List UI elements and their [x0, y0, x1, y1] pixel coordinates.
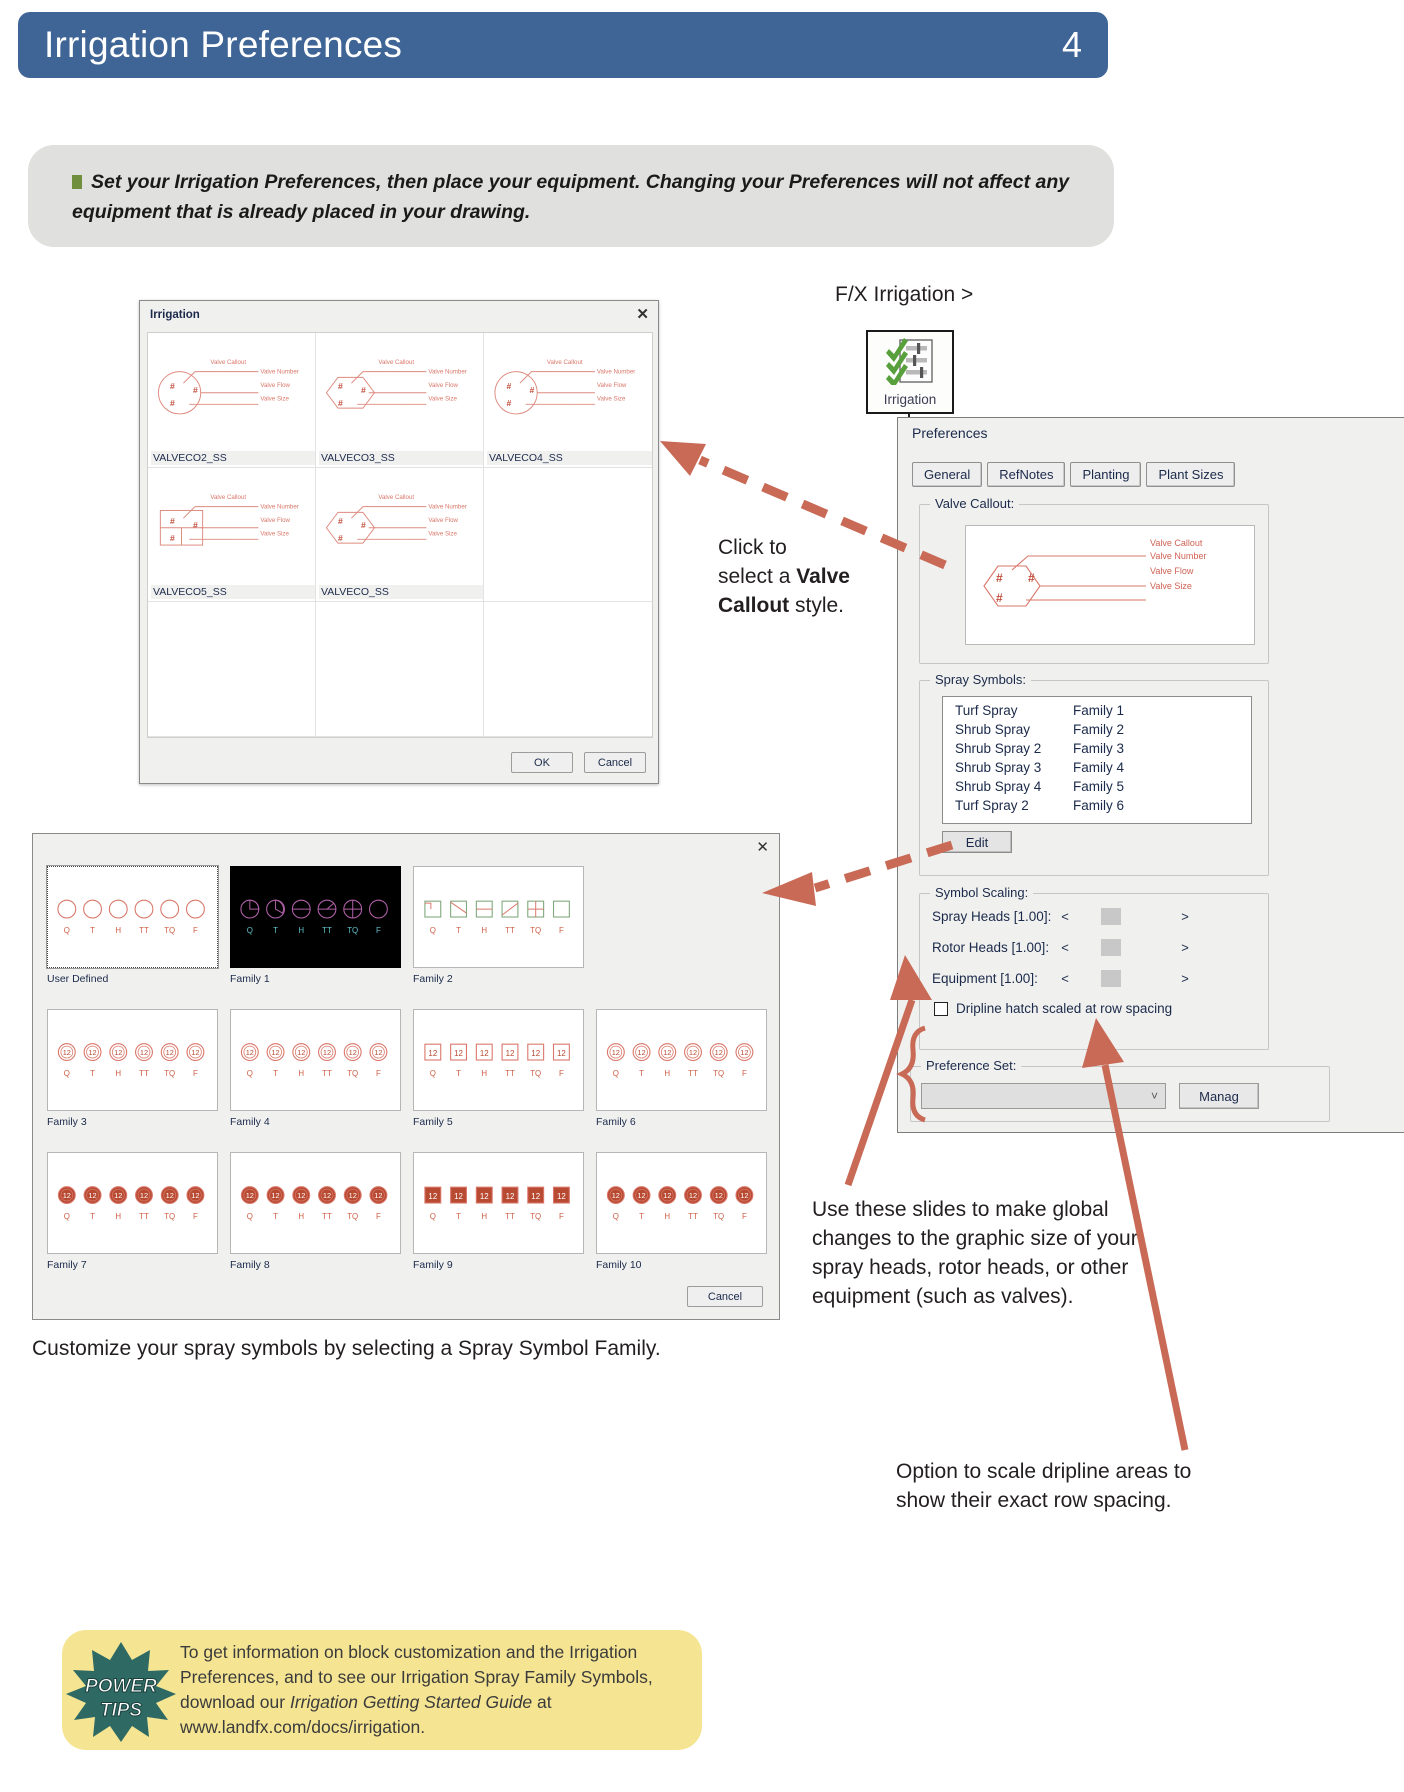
annotation-line1: Click to: [718, 536, 787, 559]
svg-text:12: 12: [664, 1048, 672, 1057]
svg-text:12: 12: [689, 1048, 697, 1057]
svg-text:H: H: [665, 1212, 671, 1221]
preferences-titlebar: Preferences: [898, 418, 1404, 448]
annotation-line2-pre: select a: [718, 565, 796, 588]
spray-family-label: Family 1: [230, 973, 401, 985]
family-button-row: Cancel: [687, 1286, 763, 1307]
valve-callout-preview-art: Valve Callout Valve Number Valve Flow Va…: [316, 337, 483, 437]
svg-text:12: 12: [506, 1192, 515, 1201]
dripline-checkbox[interactable]: [934, 1002, 948, 1016]
svg-text:TT: TT: [506, 1069, 516, 1078]
spray-family-thumbnail[interactable]: 12Q 12T 12H 12TT 12TQ 12F: [47, 1009, 218, 1111]
spray-family-label: Family 7: [47, 1259, 218, 1271]
svg-text:Valve Flow: Valve Flow: [597, 382, 627, 389]
svg-text:12: 12: [272, 1191, 280, 1200]
svg-text:Valve Number: Valve Number: [428, 503, 466, 510]
valve-callout-preview[interactable]: Valve Callout Valve Number Valve Flow Va…: [965, 525, 1255, 645]
svg-text:T: T: [91, 1069, 96, 1078]
svg-text:Valve Size: Valve Size: [428, 395, 457, 402]
svg-text:T: T: [457, 1069, 462, 1078]
svg-text:TT: TT: [140, 926, 150, 935]
svg-text:Q: Q: [247, 1212, 253, 1221]
svg-text:12: 12: [664, 1191, 672, 1200]
svg-text:Valve Callout: Valve Callout: [378, 359, 414, 366]
ribbon-irrigation-button[interactable]: Irrigation: [866, 330, 954, 414]
svg-text:TT: TT: [140, 1212, 150, 1221]
svg-text:12: 12: [89, 1191, 97, 1200]
scale-slider-handle[interactable]: [1101, 939, 1121, 956]
spray-symbol-family: Family 3: [1073, 739, 1124, 758]
svg-text:Valve Size: Valve Size: [597, 395, 626, 402]
svg-text:TQ: TQ: [531, 926, 542, 935]
svg-text:H: H: [299, 1212, 305, 1221]
svg-text:TQ: TQ: [348, 1069, 359, 1078]
scaling-row: Rotor Heads [1.00]:<>: [932, 939, 1258, 956]
svg-text:Q: Q: [613, 1069, 619, 1078]
svg-text:#: #: [338, 398, 343, 408]
svg-text:TT: TT: [140, 1069, 150, 1078]
svg-text:12: 12: [480, 1049, 489, 1058]
scale-slider-handle[interactable]: [1101, 970, 1121, 987]
svg-text:TQ: TQ: [165, 1212, 176, 1221]
spray-family-thumbnail[interactable]: QTHTTTQF: [47, 866, 218, 968]
svg-text:H: H: [482, 926, 488, 935]
spray-symbol-name: Shrub Spray: [955, 720, 1073, 739]
spray-family-option[interactable]: 12Q 12T 12H 12TT 12TQ 12F Family 10: [590, 1148, 773, 1291]
valve-callout-option[interactable]: Valve Callout Valve Number Valve Flow Va…: [316, 333, 484, 468]
svg-text:Valve Number: Valve Number: [1150, 551, 1206, 561]
svg-text:T: T: [457, 1212, 462, 1221]
scaling-row-label: Rotor Heads [1.00]:: [932, 940, 1057, 955]
svg-text:Q: Q: [247, 926, 253, 935]
svg-text:12: 12: [192, 1191, 200, 1200]
svg-text:F: F: [742, 1212, 747, 1221]
svg-text:12: 12: [63, 1048, 71, 1057]
spray-family-thumbnail[interactable]: 12Q 12T 12H 12TT 12TQ 12F: [596, 1152, 767, 1254]
spray-symbol-family: Family 2: [1073, 720, 1124, 739]
page-title: Irrigation Preferences: [44, 24, 402, 66]
spray-symbol-name: Shrub Spray 2: [955, 739, 1073, 758]
valve-callout-option-label: VALVECO_SS: [319, 585, 484, 599]
valve-callout-option-label: VALVECO3_SS: [319, 451, 484, 465]
spray-family-label: User Defined: [47, 973, 218, 985]
spray-family-option[interactable]: 12Q 12T 12H 12TT 12TQ 12F Family 4: [224, 1005, 407, 1148]
svg-text:Valve Flow: Valve Flow: [428, 517, 458, 524]
spray-family-option[interactable]: 12Q 12T 12H 12TT 12TQ 12F Family 5: [407, 1005, 590, 1148]
svg-text:12: 12: [715, 1191, 723, 1200]
svg-text:#: #: [361, 385, 366, 395]
svg-text:Valve Flow: Valve Flow: [1150, 566, 1194, 576]
spray-family-label: Family 6: [596, 1116, 767, 1128]
svg-text:T: T: [274, 1069, 279, 1078]
scale-increase-button[interactable]: >: [1177, 971, 1193, 986]
annotation-line3-bold: Callout: [718, 594, 789, 617]
svg-text:Q: Q: [613, 1212, 619, 1221]
tab-refnotes[interactable]: RefNotes: [987, 462, 1065, 487]
svg-text:TT: TT: [689, 1212, 699, 1221]
valve-callout-empty-cell: [148, 602, 316, 737]
scale-decrease-button[interactable]: <: [1057, 971, 1073, 986]
family-dialog-titlebar: ✕: [33, 834, 779, 860]
spray-symbol-family: Family 4: [1073, 758, 1124, 777]
svg-text:12: 12: [455, 1192, 464, 1201]
svg-text:F: F: [559, 1212, 564, 1221]
ribbon-button-label: Irrigation: [884, 392, 937, 407]
spray-symbols-list[interactable]: Turf SprayFamily 1Shrub SprayFamily 2Shr…: [942, 696, 1252, 824]
svg-text:Valve Callout: Valve Callout: [210, 494, 246, 501]
preferences-dialog: Preferences GeneralRefNotesPlantingPlant…: [897, 417, 1404, 1133]
spray-family-option[interactable]: 12Q 12T 12H 12TT 12TQ 12F Family 6: [590, 1005, 773, 1148]
svg-text:H: H: [116, 926, 122, 935]
svg-text:H: H: [299, 1069, 305, 1078]
spray-symbol-row[interactable]: Turf SprayFamily 1: [943, 701, 1251, 720]
svg-text:#: #: [338, 381, 343, 391]
valve-callout-group-title: Valve Callout:: [930, 496, 1019, 511]
svg-text:T: T: [91, 1212, 96, 1221]
manage-button[interactable]: Manag: [1179, 1083, 1259, 1109]
svg-text:#: #: [193, 519, 198, 529]
cancel-button[interactable]: Cancel: [584, 752, 646, 773]
svg-text:#: #: [506, 398, 511, 408]
svg-text:F: F: [193, 1212, 198, 1221]
svg-text:#: #: [193, 385, 198, 395]
valve-callout-preview-art: Valve Callout Valve Number Valve Flow Va…: [148, 337, 315, 437]
svg-text:TT: TT: [689, 1069, 699, 1078]
spray-family-thumbnail[interactable]: 12Q 12T 12H 12TT 12TQ 12F: [596, 1009, 767, 1111]
spray-family-thumbnail[interactable]: 12Q 12T 12H 12TT 12TQ 12F: [413, 1152, 584, 1254]
close-icon[interactable]: ✕: [756, 840, 769, 855]
svg-text:12: 12: [375, 1048, 383, 1057]
spray-family-thumbnail[interactable]: 12Q 12T 12H 12TT 12TQ 12F: [413, 1009, 584, 1111]
preference-set-dropdown[interactable]: ˅: [921, 1083, 1166, 1109]
spray-symbol-family: Family 6: [1073, 796, 1124, 815]
svg-text:F: F: [559, 926, 564, 935]
svg-text:12: 12: [192, 1048, 200, 1057]
preference-set-group: Preference Set: ˅ Manag: [910, 1066, 1330, 1122]
svg-text:12: 12: [323, 1191, 331, 1200]
svg-text:F: F: [742, 1069, 747, 1078]
svg-text:#: #: [530, 385, 535, 395]
close-icon[interactable]: ✕: [636, 307, 649, 322]
note-bullet-icon: [72, 175, 82, 189]
svg-text:TQ: TQ: [348, 926, 359, 935]
page-number: 4: [1062, 24, 1082, 66]
svg-text:TQ: TQ: [165, 926, 176, 935]
spray-symbol-row[interactable]: Shrub Spray 4Family 5: [943, 777, 1251, 796]
spray-family-label: Family 2: [413, 973, 584, 985]
spray-family-label: Family 9: [413, 1259, 584, 1271]
svg-text:TQ: TQ: [348, 1212, 359, 1221]
power-tips-box: POWER TIPS To get information on block c…: [62, 1630, 702, 1750]
power-tips-text: To get information on block customizatio…: [180, 1640, 702, 1739]
svg-text:12: 12: [689, 1191, 697, 1200]
chevron-down-icon: ˅: [1151, 1089, 1158, 1103]
valve-callout-option-label: VALVECO5_SS: [151, 585, 316, 599]
valve-callout-option-label: VALVECO4_SS: [487, 451, 652, 465]
svg-text:H: H: [116, 1069, 122, 1078]
svg-text:#: #: [996, 591, 1003, 605]
svg-text:12: 12: [166, 1191, 174, 1200]
dialog-title: Irrigation: [150, 309, 200, 321]
svg-text:TQ: TQ: [165, 1069, 176, 1078]
symbol-scaling-group: Symbol Scaling: Spray Heads [1.00]:<>Rot…: [919, 893, 1269, 1050]
scale-slider-handle[interactable]: [1101, 908, 1121, 925]
svg-text:F: F: [376, 1069, 381, 1078]
note-text: Set your Irrigation Preferences, then pl…: [72, 171, 1069, 223]
svg-text:H: H: [116, 1212, 122, 1221]
annotation-line3-post: style.: [789, 594, 844, 617]
svg-text:T: T: [91, 926, 96, 935]
irrigation-valve-callout-dialog: Irrigation ✕ Valve Callout Valve Number …: [139, 300, 659, 784]
svg-text:12: 12: [375, 1191, 383, 1200]
tab-plant-sizes[interactable]: Plant Sizes: [1146, 462, 1235, 487]
svg-text:12: 12: [741, 1048, 749, 1057]
svg-text:12: 12: [246, 1191, 254, 1200]
svg-text:Valve Flow: Valve Flow: [428, 382, 458, 389]
spray-family-label: Family 4: [230, 1116, 401, 1128]
svg-text:12: 12: [429, 1192, 438, 1201]
spray-family-label: Family 3: [47, 1116, 218, 1128]
svg-text:TT: TT: [506, 926, 516, 935]
svg-text:12: 12: [349, 1048, 357, 1057]
page-header-banner: Irrigation Preferences 4: [18, 12, 1108, 78]
family-grid: QTHTTTQF User DefinedQTHTTTQF Family 1QT…: [39, 862, 775, 1272]
svg-text:12: 12: [166, 1048, 174, 1057]
svg-text:T: T: [274, 1212, 279, 1221]
spray-family-option[interactable]: QTHTTTQF Family 2: [407, 862, 590, 1005]
svg-text:Valve Number: Valve Number: [260, 369, 298, 376]
svg-text:Q: Q: [430, 926, 436, 935]
svg-text:Valve Number: Valve Number: [428, 369, 466, 376]
svg-text:#: #: [361, 519, 366, 529]
spray-family-option[interactable]: QTHTTTQF User Defined: [41, 862, 224, 1005]
valve-callout-preview-art: Valve Callout Valve Number Valve Flow Va…: [148, 472, 315, 572]
svg-text:Valve Flow: Valve Flow: [260, 382, 290, 389]
svg-text:12: 12: [638, 1048, 646, 1057]
svg-text:Valve Number: Valve Number: [260, 503, 298, 510]
power-tips-badge: POWER TIPS: [62, 1640, 180, 1740]
spray-symbol-name: Shrub Spray 3: [955, 758, 1073, 777]
svg-text:#: #: [996, 571, 1003, 585]
spray-symbol-row[interactable]: Shrub Spray 3Family 4: [943, 758, 1251, 777]
intro-note: Set your Irrigation Preferences, then pl…: [28, 145, 1114, 247]
annotation-line2-bold: Valve: [796, 565, 850, 588]
tab-planting[interactable]: Planting: [1070, 462, 1141, 487]
svg-text:12: 12: [506, 1049, 515, 1058]
valve-callout-option[interactable]: Valve Callout Valve Number Valve Flow Va…: [148, 333, 316, 468]
svg-text:12: 12: [429, 1049, 438, 1058]
spray-symbol-family: Family 1: [1073, 701, 1124, 720]
svg-text:12: 12: [612, 1191, 620, 1200]
scale-increase-button[interactable]: >: [1177, 909, 1193, 924]
svg-text:H: H: [299, 926, 305, 935]
svg-text:12: 12: [140, 1048, 148, 1057]
svg-text:Q: Q: [430, 1069, 436, 1078]
spray-family-option[interactable]: 12Q 12T 12H 12TT 12TQ 12F Family 8: [224, 1148, 407, 1291]
edit-button[interactable]: Edit: [942, 831, 1012, 853]
grid-spacer: [590, 862, 773, 1005]
scaling-row-label: Spray Heads [1.00]:: [932, 909, 1057, 924]
spray-symbol-row[interactable]: Shrub Spray 2Family 3: [943, 739, 1251, 758]
preferences-tabs: GeneralRefNotesPlantingPlant Sizes: [912, 462, 1235, 487]
dripline-checkbox-row[interactable]: Dripline hatch scaled at row spacing: [934, 1001, 1172, 1016]
valve-callout-empty-cell: [484, 468, 652, 603]
symbol-scaling-group-title: Symbol Scaling:: [930, 885, 1033, 900]
svg-text:TT: TT: [506, 1212, 516, 1221]
spray-family-thumbnail[interactable]: 12Q 12T 12H 12TT 12TQ 12F: [230, 1152, 401, 1254]
svg-text:#: #: [170, 381, 175, 391]
svg-text:T: T: [640, 1069, 645, 1078]
svg-text:12: 12: [140, 1191, 148, 1200]
svg-text:Valve Flow: Valve Flow: [260, 517, 290, 524]
svg-text:12: 12: [638, 1191, 646, 1200]
spray-symbols-group: Spray Symbols: Turf SprayFamily 1Shrub S…: [919, 680, 1269, 876]
svg-text:Valve Size: Valve Size: [1150, 581, 1192, 591]
svg-text:Q: Q: [64, 1212, 70, 1221]
scale-decrease-button[interactable]: <: [1057, 909, 1073, 924]
dialog-titlebar: Irrigation ✕: [140, 301, 658, 328]
spray-symbol-family-dialog: ✕ QTHTTTQF User DefinedQTHTTTQF Family 1…: [32, 833, 780, 1320]
family-caption: Customize your spray symbols by selectin…: [32, 1337, 772, 1361]
svg-text:12: 12: [532, 1192, 541, 1201]
svg-text:#: #: [170, 533, 175, 543]
valve-callout-grid: Valve Callout Valve Number Valve Flow Va…: [147, 332, 653, 738]
svg-text:12: 12: [246, 1048, 254, 1057]
valve-callout-group: Valve Callout: Valve Callout Valve Numbe…: [919, 504, 1269, 664]
spray-family-thumbnail[interactable]: 12Q 12T 12H 12TT 12TQ 12F: [230, 1009, 401, 1111]
valve-callout-preview-art: Valve Callout Valve Number Valve Flow Va…: [484, 337, 652, 437]
svg-text:12: 12: [455, 1049, 464, 1058]
spray-family-option[interactable]: 12Q 12T 12H 12TT 12TQ 12F Family 9: [407, 1148, 590, 1291]
spray-symbol-row[interactable]: Shrub SprayFamily 2: [943, 720, 1251, 739]
svg-text:12: 12: [272, 1048, 280, 1057]
spray-family-thumbnail[interactable]: QTHTTTQF: [413, 866, 584, 968]
spray-family-thumbnail[interactable]: 12Q 12T 12H 12TT 12TQ 12F: [47, 1152, 218, 1254]
spray-family-label: Family 5: [413, 1116, 584, 1128]
spray-symbol-name: Turf Spray: [955, 701, 1073, 720]
svg-text:Valve Size: Valve Size: [428, 530, 457, 537]
svg-text:F: F: [193, 1069, 198, 1078]
svg-text:#: #: [1028, 571, 1035, 585]
scaling-row: Equipment [1.00]:<>: [932, 970, 1258, 987]
svg-text:TQ: TQ: [531, 1069, 542, 1078]
svg-text:T: T: [274, 926, 279, 935]
svg-text:12: 12: [323, 1048, 331, 1057]
valve-callout-empty-cell: [316, 602, 484, 737]
svg-text:Q: Q: [430, 1212, 436, 1221]
arrow-head-valve-callout: [660, 441, 706, 476]
svg-text:Valve Callout: Valve Callout: [378, 494, 414, 501]
tab-general[interactable]: General: [912, 462, 982, 487]
preferences-title: Preferences: [912, 425, 987, 441]
spray-symbol-row[interactable]: Turf Spray 2Family 6: [943, 796, 1251, 815]
svg-text:#: #: [170, 398, 175, 408]
svg-text:12: 12: [715, 1048, 723, 1057]
spray-family-label: Family 10: [596, 1259, 767, 1271]
svg-text:Valve Size: Valve Size: [260, 395, 289, 402]
spray-family-option[interactable]: 12Q 12T 12H 12TT 12TQ 12F Family 3: [41, 1005, 224, 1148]
svg-text:#: #: [170, 516, 175, 526]
power-tips-badge-line2: TIPS: [100, 1700, 143, 1721]
valve-callout-preview-art: Valve Callout Valve Number Valve Flow Va…: [316, 472, 483, 572]
ok-button[interactable]: OK: [511, 752, 573, 773]
svg-text:12: 12: [298, 1191, 306, 1200]
svg-text:Valve Callout: Valve Callout: [1150, 538, 1203, 548]
svg-text:H: H: [482, 1212, 488, 1221]
svg-text:Valve Number: Valve Number: [597, 369, 635, 376]
svg-text:Q: Q: [64, 1069, 70, 1078]
svg-text:F: F: [376, 1212, 381, 1221]
scaling-row: Spray Heads [1.00]:<>: [932, 908, 1258, 925]
svg-text:#: #: [506, 381, 511, 391]
dialog-button-row: OK Cancel: [511, 752, 646, 773]
power-tips-badge-line1: POWER: [85, 1676, 157, 1697]
scaling-row-label: Equipment [1.00]:: [932, 971, 1057, 986]
irrigation-preferences-icon: [884, 337, 936, 390]
svg-text:Valve Callout: Valve Callout: [547, 359, 583, 366]
svg-text:TT: TT: [323, 1212, 333, 1221]
svg-text:F: F: [376, 926, 381, 935]
valve-callout-empty-cell: [484, 602, 652, 737]
annotation-click-valve-callout: Click to select a Valve Callout style.: [718, 534, 888, 621]
svg-text:#: #: [338, 533, 343, 543]
spray-symbol-name: Turf Spray 2: [955, 796, 1073, 815]
svg-text:12: 12: [63, 1191, 71, 1200]
svg-text:12: 12: [349, 1191, 357, 1200]
svg-text:H: H: [482, 1069, 488, 1078]
svg-text:Q: Q: [247, 1069, 253, 1078]
valve-callout-option[interactable]: Valve Callout Valve Number Valve Flow Va…: [148, 468, 316, 603]
spray-family-thumbnail[interactable]: QTHTTTQF: [230, 866, 401, 968]
dripline-checkbox-label: Dripline hatch scaled at row spacing: [956, 1001, 1172, 1016]
preference-set-group-title: Preference Set:: [921, 1058, 1021, 1073]
scale-increase-button[interactable]: >: [1177, 940, 1193, 955]
annotation-dripline: Option to scale dripline areas to show t…: [896, 1458, 1216, 1516]
cancel-button[interactable]: Cancel: [687, 1286, 763, 1307]
svg-text:TT: TT: [323, 926, 333, 935]
svg-text:TT: TT: [323, 1069, 333, 1078]
spray-symbol-family: Family 5: [1073, 777, 1124, 796]
svg-text:12: 12: [480, 1192, 489, 1201]
annotation-symbol-scaling: Use these slides to make global changes …: [812, 1196, 1142, 1312]
power-tips-text-italic: Irrigation Getting Started Guide: [290, 1692, 532, 1712]
svg-text:T: T: [640, 1212, 645, 1221]
valve-callout-option-label: VALVECO2_SS: [151, 451, 316, 465]
svg-text:T: T: [457, 926, 462, 935]
scale-decrease-button[interactable]: <: [1057, 940, 1073, 955]
svg-text:Valve Size: Valve Size: [260, 530, 289, 537]
svg-text:12: 12: [115, 1191, 123, 1200]
svg-text:Q: Q: [64, 926, 70, 935]
spray-family-option[interactable]: QTHTTTQF Family 1: [224, 862, 407, 1005]
svg-text:H: H: [665, 1069, 671, 1078]
svg-text:12: 12: [557, 1192, 566, 1201]
spray-family-option[interactable]: 12Q 12T 12H 12TT 12TQ 12F Family 7: [41, 1148, 224, 1291]
svg-text:TQ: TQ: [714, 1069, 725, 1078]
svg-text:F: F: [193, 926, 198, 935]
spray-family-label: Family 8: [230, 1259, 401, 1271]
svg-text:12: 12: [532, 1049, 541, 1058]
svg-text:12: 12: [741, 1191, 749, 1200]
svg-text:F: F: [559, 1069, 564, 1078]
svg-text:TQ: TQ: [714, 1212, 725, 1221]
valve-callout-option[interactable]: Valve Callout Valve Number Valve Flow Va…: [484, 333, 652, 468]
svg-text:12: 12: [557, 1049, 566, 1058]
valve-callout-option[interactable]: Valve Callout Valve Number Valve Flow Va…: [316, 468, 484, 603]
svg-text:TQ: TQ: [531, 1212, 542, 1221]
svg-text:12: 12: [89, 1048, 97, 1057]
menu-path-label: F/X Irrigation >: [835, 283, 973, 307]
